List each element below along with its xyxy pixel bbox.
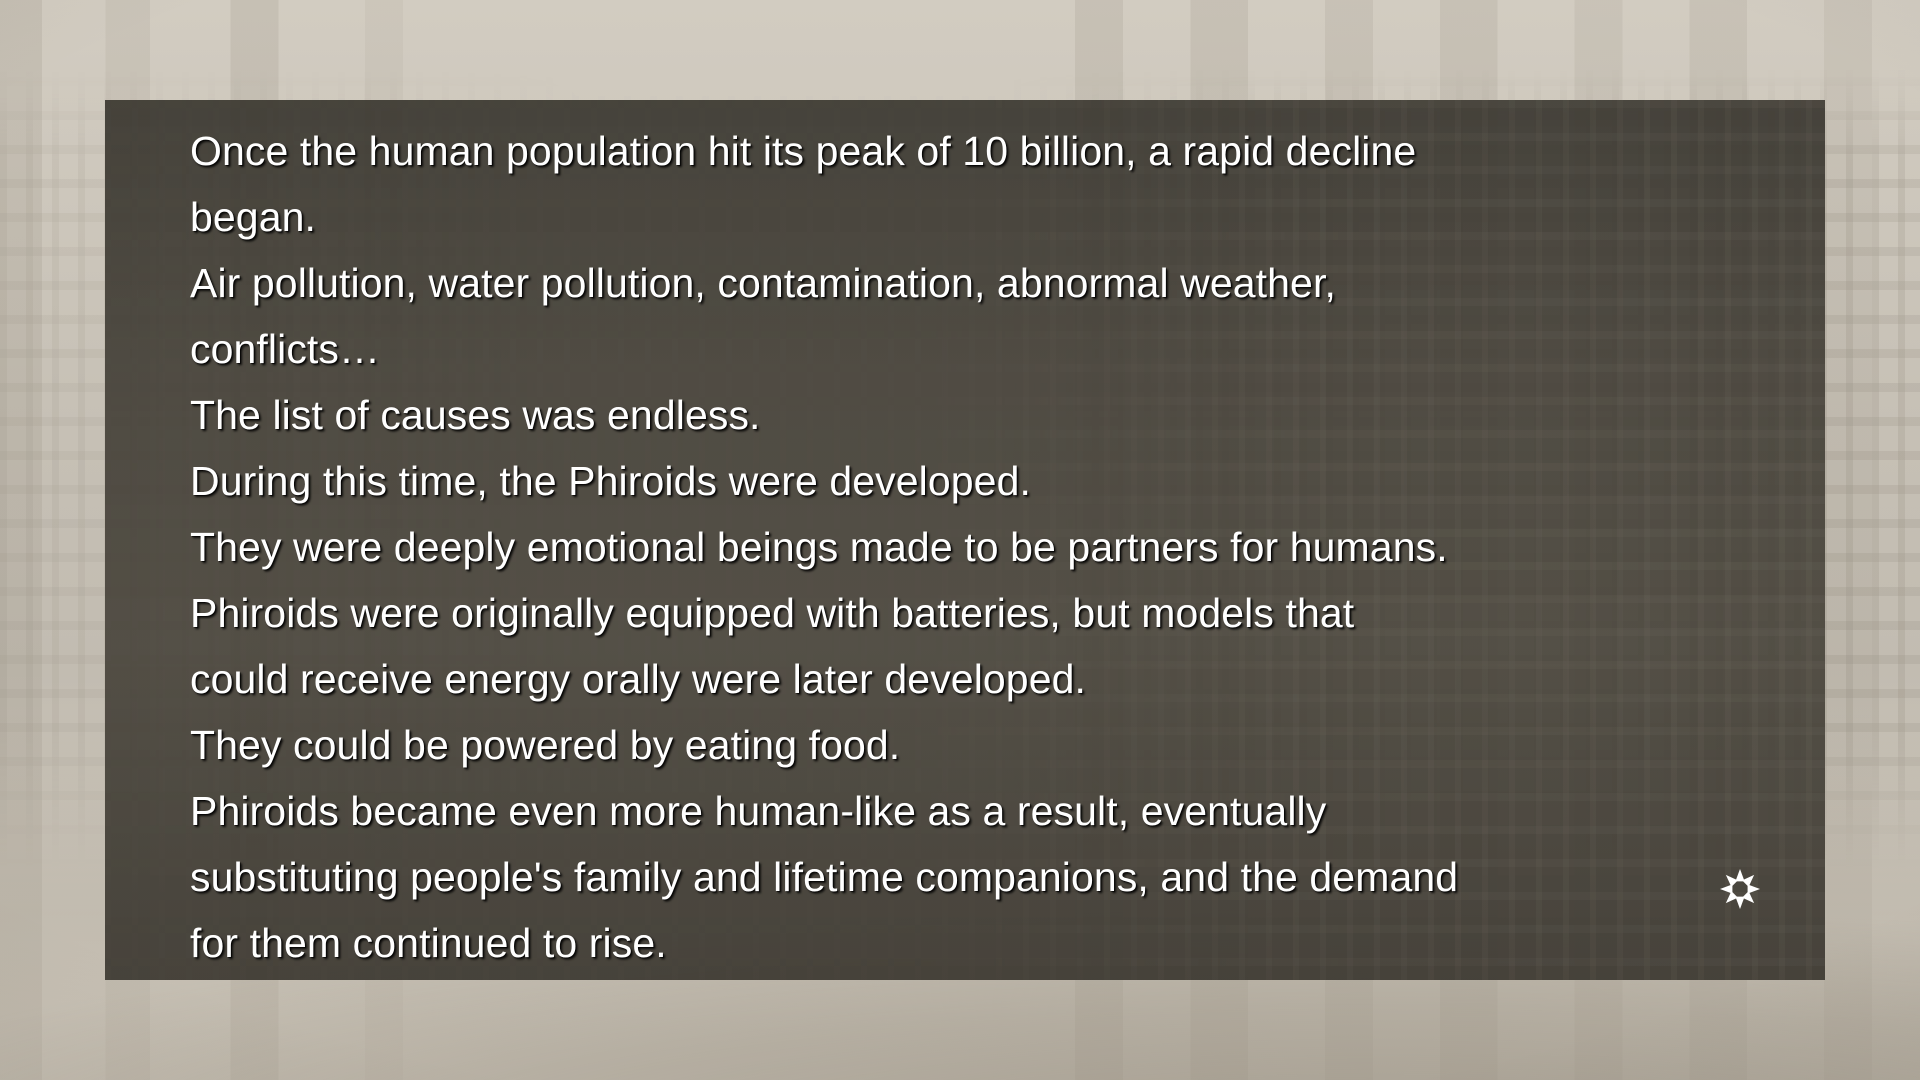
pinwheel-icon[interactable] bbox=[1717, 866, 1763, 912]
dialogue-line: began. bbox=[190, 184, 1765, 250]
dialogue-line: Air pollution, water pollution, contamin… bbox=[190, 250, 1765, 316]
dialogue-line: conflicts… bbox=[190, 316, 1765, 382]
dialogue-line: could receive energy orally were later d… bbox=[190, 646, 1765, 712]
dialogue-line: substituting people's family and lifetim… bbox=[190, 844, 1765, 910]
dialogue-line: Once the human population hit its peak o… bbox=[190, 118, 1765, 184]
dialogue-line: The list of causes was endless. bbox=[190, 382, 1765, 448]
dialogue-line: for them continued to rise. bbox=[190, 910, 1765, 976]
dialogue-line: Phiroids became even more human-like as … bbox=[190, 778, 1765, 844]
dialogue-line: They were deeply emotional beings made t… bbox=[190, 514, 1765, 580]
game-screen: Once the human population hit its peak o… bbox=[0, 0, 1920, 1080]
dialogue-line: They could be powered by eating food. bbox=[190, 712, 1765, 778]
dialogue-textbox[interactable]: Once the human population hit its peak o… bbox=[105, 100, 1825, 980]
dialogue-text: Once the human population hit its peak o… bbox=[190, 118, 1765, 950]
dialogue-line: During this time, the Phiroids were deve… bbox=[190, 448, 1765, 514]
dialogue-line: Phiroids were originally equipped with b… bbox=[190, 580, 1765, 646]
